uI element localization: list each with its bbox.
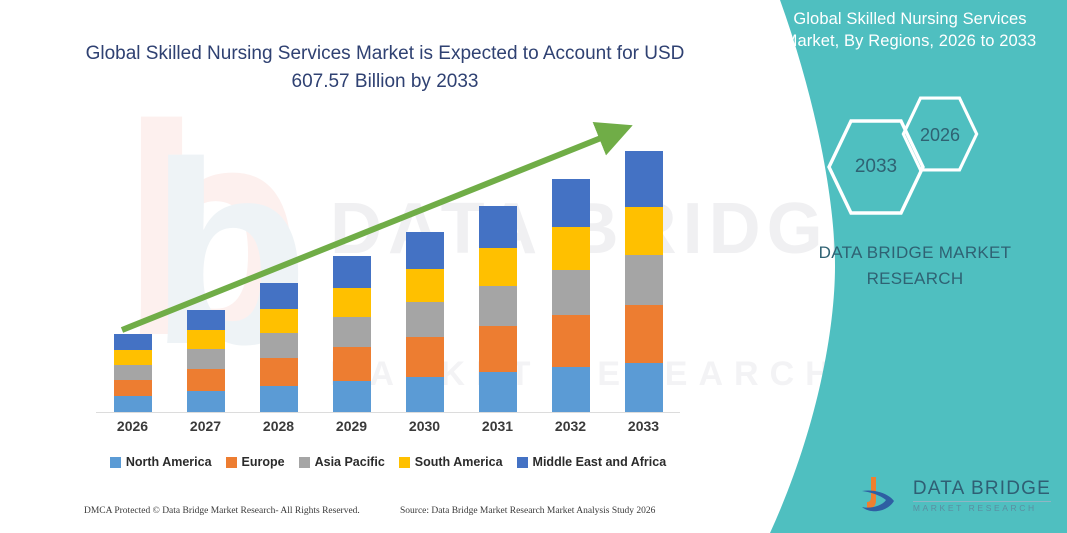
- x-axis-tick-label: 2029: [321, 418, 383, 434]
- legend-item[interactable]: Asia Pacific: [299, 455, 385, 469]
- legend-swatch-icon: [517, 457, 528, 468]
- logo-name: DATA BRIDGE: [913, 479, 1051, 498]
- legend-swatch-icon: [299, 457, 310, 468]
- bar-column: [102, 334, 164, 412]
- infographic-root: b b DATA BRIDGE MARKET RESEARCH Global S…: [0, 0, 1067, 533]
- chart-legend: North AmericaEuropeAsia PacificSouth Ame…: [80, 455, 696, 469]
- bar-segment: [187, 330, 225, 349]
- bar-segment: [479, 248, 517, 286]
- x-axis-labels: 20262027202820292030203120322033: [96, 418, 680, 434]
- bar-segment: [114, 334, 152, 350]
- bar-segment: [625, 363, 663, 412]
- hexagon-end-year: 2033: [826, 117, 926, 217]
- panel-brand-line1: DATA BRIDGE MARKET: [790, 240, 1040, 266]
- legend-item[interactable]: North America: [110, 455, 212, 469]
- legend-label: Europe: [242, 455, 285, 469]
- bar-segment: [114, 380, 152, 396]
- bar-segment: [479, 206, 517, 248]
- bar-column: [394, 232, 456, 412]
- x-axis-tick-label: 2030: [394, 418, 456, 434]
- bar-segment: [406, 232, 444, 269]
- bar-segment: [479, 326, 517, 372]
- bar-column: [613, 151, 675, 412]
- bar-column: [467, 206, 529, 412]
- bar-column: [321, 256, 383, 412]
- panel-brand-line2: RESEARCH: [790, 266, 1040, 292]
- legend-label: South America: [415, 455, 503, 469]
- bar-segment: [552, 179, 590, 227]
- bar-segment: [114, 350, 152, 365]
- bar-segment: [114, 396, 152, 412]
- bar-segment: [260, 309, 298, 333]
- stacked-bar: [187, 310, 225, 412]
- x-axis-tick-label: 2033: [613, 418, 675, 434]
- bar-segment: [625, 305, 663, 363]
- hexagon-group: 2026 2033: [826, 95, 986, 210]
- stacked-bar: [625, 151, 663, 412]
- bar-segment: [333, 381, 371, 412]
- bar-segment: [187, 369, 225, 391]
- bar-segment: [552, 315, 590, 367]
- legend-item[interactable]: Europe: [226, 455, 285, 469]
- bar-segment: [625, 207, 663, 255]
- footer-source: Source: Data Bridge Market Research Mark…: [400, 506, 655, 516]
- logo-tagline: MARKET RESEARCH: [913, 504, 1051, 513]
- bar-segment: [260, 333, 298, 358]
- bar-segment: [552, 367, 590, 412]
- stacked-bar: [260, 283, 298, 412]
- stacked-bar: [552, 179, 590, 412]
- legend-item[interactable]: South America: [399, 455, 503, 469]
- bar-segment: [187, 349, 225, 369]
- footer-dmca: DMCA Protected © Data Bridge Market Rese…: [84, 506, 360, 516]
- bar-segment: [406, 377, 444, 412]
- bar-segment: [479, 372, 517, 412]
- bar-segment: [187, 391, 225, 412]
- panel-brand-text: DATA BRIDGE MARKET RESEARCH: [790, 240, 1040, 291]
- legend-item[interactable]: Middle East and Africa: [517, 455, 667, 469]
- bar-segment: [625, 151, 663, 207]
- legend-label: North America: [126, 455, 212, 469]
- legend-label: Asia Pacific: [315, 455, 385, 469]
- x-axis-tick-label: 2032: [540, 418, 602, 434]
- bar-segment: [552, 227, 590, 270]
- hexagon-end-year-label: 2033: [855, 156, 897, 178]
- bar-segment: [333, 317, 371, 347]
- bar-segment: [260, 283, 298, 309]
- company-logo: DATA BRIDGE MARKET RESEARCH: [858, 475, 1051, 517]
- bar-segment: [406, 337, 444, 377]
- stacked-bar: [114, 334, 152, 412]
- stacked-bar: [479, 206, 517, 412]
- bar-segment: [552, 270, 590, 315]
- bar-segment: [260, 386, 298, 412]
- bar-column: [248, 283, 310, 412]
- stacked-bar: [333, 256, 371, 412]
- logo-wordmark: DATA BRIDGE MARKET RESEARCH: [913, 479, 1051, 513]
- bar-segment: [260, 358, 298, 386]
- bar-segment: [187, 310, 225, 330]
- x-axis-tick-label: 2026: [102, 418, 164, 434]
- data-bridge-logo-icon: [858, 475, 904, 517]
- bar-column: [540, 179, 602, 412]
- bar-segment: [479, 286, 517, 326]
- x-axis-tick-label: 2027: [175, 418, 237, 434]
- legend-swatch-icon: [226, 457, 237, 468]
- bar-column: [175, 310, 237, 412]
- hexagon-start-year-label: 2026: [920, 125, 960, 146]
- panel-title: Global Skilled Nursing Services Market, …: [770, 8, 1050, 53]
- bar-segment: [333, 347, 371, 381]
- legend-label: Middle East and Africa: [533, 455, 667, 469]
- legend-swatch-icon: [110, 457, 121, 468]
- bar-segment: [406, 302, 444, 337]
- stacked-bar-group: [96, 120, 680, 412]
- legend-swatch-icon: [399, 457, 410, 468]
- stacked-bar: [406, 232, 444, 412]
- bar-segment: [114, 365, 152, 380]
- chart-panel: Global Skilled Nursing Services Market i…: [0, 0, 760, 533]
- x-axis-line: [96, 412, 680, 413]
- x-axis-tick-label: 2031: [467, 418, 529, 434]
- bar-segment: [333, 288, 371, 317]
- bar-segment: [625, 255, 663, 305]
- bar-segment: [333, 256, 371, 288]
- page-title: Global Skilled Nursing Services Market i…: [60, 40, 710, 95]
- x-axis-tick-label: 2028: [248, 418, 310, 434]
- bar-segment: [406, 269, 444, 302]
- logo-divider: [913, 501, 1051, 502]
